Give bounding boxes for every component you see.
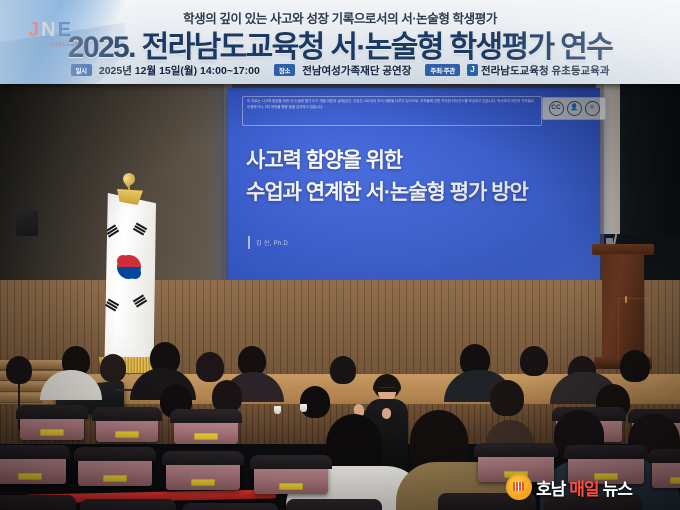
event-banner: J N E 전라남도교육청 학생의 깊이 있는 사고와 성장 기록으로서의 서·…: [0, 0, 680, 84]
auditorium-scene: 이 자료는 사고력 함양을 위한 서·논술형 평가 도구 개발 이론과 실제(김…: [0, 84, 680, 510]
auditorium-seat: [174, 416, 238, 444]
banner-host: 주최·주관 J 전라남도교육청 유초등교육과: [425, 63, 609, 78]
banner-title: 2025. 전라남도교육청 서·논술형 학생평가 연수: [0, 22, 680, 66]
banner-info-row: 일시 2025년 12월 15일(월) 14:00~17:00 장소 전남여성가…: [0, 62, 680, 78]
auditorium-seat: [442, 502, 532, 510]
host-value: 전라남도교육청 유초등교육과: [481, 63, 610, 78]
watermark-part-1: 호남: [536, 475, 565, 500]
audience-area: [0, 84, 680, 510]
host-chip-label: 주최·주관: [425, 64, 460, 76]
host-logo-icon: J: [467, 64, 478, 76]
paper-cup: [274, 406, 281, 414]
watermark-part-2: 매일: [569, 475, 598, 500]
watermark-part-3: 뉴스: [603, 475, 632, 500]
audience-head: [100, 354, 126, 382]
auditorium-seat: [20, 412, 84, 440]
auditorium-seat: [166, 458, 240, 490]
place-value: 전남여성가족재단 공연장: [302, 63, 411, 78]
banner-place: 장소 전남여성가족재단 공연장: [274, 63, 412, 78]
date-chip-label: 일시: [71, 64, 92, 76]
audience-shoulders: [40, 370, 102, 400]
auditorium-seat: [254, 462, 328, 494]
audience-head: [196, 352, 224, 382]
place-chip-label: 장소: [274, 64, 295, 76]
banner-date: 일시 2025년 12월 15일(월) 14:00~17:00: [71, 63, 260, 78]
news-watermark: 호남 매일 뉴스: [506, 474, 632, 500]
auditorium-seat: [652, 456, 680, 488]
audience-head: [330, 356, 356, 384]
paper-cup: [300, 404, 307, 412]
audience-head: [520, 346, 548, 376]
audience-head: [6, 356, 32, 384]
audience-head: [620, 350, 650, 382]
auditorium-seat: [548, 504, 638, 510]
auditorium-seat: [96, 414, 158, 442]
audience-head: [300, 386, 330, 418]
photo-screenshot: 이 자료는 사고력 함양을 위한 서·논술형 평가 도구 개발 이론과 실제(김…: [0, 0, 680, 510]
date-value: 2025년 12월 15일(월) 14:00~17:00: [99, 63, 260, 78]
audience-head: [490, 380, 524, 416]
auditorium-seat: [0, 452, 66, 484]
auditorium-seat: [0, 504, 72, 510]
auditorium-seat: [78, 454, 152, 486]
honam-news-logo-icon: [506, 474, 532, 500]
